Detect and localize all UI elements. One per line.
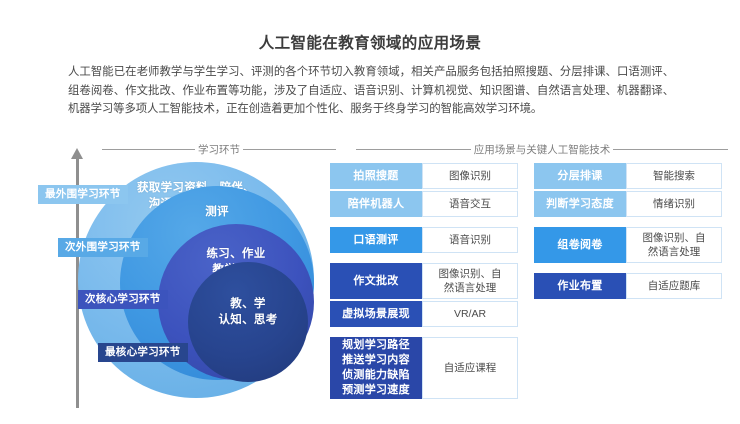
scenario-card-row[interactable]: 分层排课智能搜索 bbox=[534, 163, 722, 189]
scenario-card-group: 作业布置自适应题库 bbox=[534, 273, 722, 299]
scenario-label: 分层排课 bbox=[534, 163, 626, 189]
technology-label: 语音识别 bbox=[422, 227, 518, 253]
scenario-card-row[interactable]: 虚拟场景展现VR/AR bbox=[330, 301, 518, 327]
scenario-card-group: 拍照搜题图像识别陪伴机器人语音交互 bbox=[330, 163, 518, 217]
up-arrow-icon bbox=[71, 148, 83, 159]
technology-label: 图像识别 bbox=[422, 163, 518, 189]
scenario-card-group: 规划学习路径 推送学习内容 侦测能力缺陷 预测学习速度自适应课程 bbox=[330, 337, 518, 399]
scenario-label: 组卷阅卷 bbox=[534, 227, 626, 263]
ring-core: 教、学 认知、思考 bbox=[188, 262, 308, 382]
stage-tag-core: 最核心学习环节 bbox=[98, 343, 188, 362]
technology-label: 自适应题库 bbox=[626, 273, 722, 299]
divider-line-right bbox=[613, 149, 728, 150]
technology-label: 图像识别、自 然语言处理 bbox=[422, 263, 518, 299]
technology-label: 语音交互 bbox=[422, 191, 518, 217]
scenario-card-row[interactable]: 组卷阅卷图像识别、自 然语言处理 bbox=[534, 227, 722, 263]
page-title: 人工智能在教育领域的应用场景 bbox=[0, 31, 740, 53]
technology-label: 情绪识别 bbox=[626, 191, 722, 217]
scenario-column-right: 分层排课智能搜索判断学习态度情绪识别组卷阅卷图像识别、自 然语言处理作业布置自适… bbox=[534, 163, 722, 309]
concentric-circle-diagram: 获取学习资料、陪伴、 沟通、教务、管理 测评 练习、作业 教学辅助 教、学 认知… bbox=[30, 150, 330, 415]
technology-label: 自适应课程 bbox=[422, 337, 518, 399]
scenario-card-row[interactable]: 规划学习路径 推送学习内容 侦测能力缺陷 预测学习速度自适应课程 bbox=[330, 337, 518, 399]
scenario-card-row[interactable]: 陪伴机器人语音交互 bbox=[330, 191, 518, 217]
scenario-label: 判断学习态度 bbox=[534, 191, 626, 217]
scenario-card-group: 分层排课智能搜索判断学习态度情绪识别 bbox=[534, 163, 722, 217]
scenario-label: 拍照搜题 bbox=[330, 163, 422, 189]
scenario-label: 作业布置 bbox=[534, 273, 626, 299]
scenario-panel: 拍照搜题图像识别陪伴机器人语音交互口语测评语音识别作文批改图像识别、自 然语言处… bbox=[330, 163, 732, 418]
stage-tag-outermost: 最外围学习环节 bbox=[38, 185, 128, 204]
scenario-label: 虚拟场景展现 bbox=[330, 301, 422, 327]
ring-label-second: 测评 bbox=[120, 204, 314, 220]
scenario-card-row[interactable]: 判断学习态度情绪识别 bbox=[534, 191, 722, 217]
stage-tag-third: 次核心学习环节 bbox=[78, 290, 168, 309]
scenario-card-row[interactable]: 作业布置自适应题库 bbox=[534, 273, 722, 299]
technology-label: VR/AR bbox=[422, 301, 518, 327]
scenario-card-group: 口语测评语音识别 bbox=[330, 227, 518, 253]
technology-label: 智能搜索 bbox=[626, 163, 722, 189]
scenario-label: 作文批改 bbox=[330, 263, 422, 299]
scenario-card-group: 作文批改图像识别、自 然语言处理虚拟场景展现VR/AR bbox=[330, 263, 518, 327]
scenario-card-row[interactable]: 口语测评语音识别 bbox=[330, 227, 518, 253]
section-heading-label: 应用场景与关键人工智能技术 bbox=[471, 142, 614, 157]
scenario-card-row[interactable]: 作文批改图像识别、自 然语言处理 bbox=[330, 263, 518, 299]
scenario-label: 规划学习路径 推送学习内容 侦测能力缺陷 预测学习速度 bbox=[330, 337, 422, 399]
scenario-column-left: 拍照搜题图像识别陪伴机器人语音交互口语测评语音识别作文批改图像识别、自 然语言处… bbox=[330, 163, 518, 409]
stage-tag-second: 次外围学习环节 bbox=[58, 238, 148, 257]
scenario-card-row[interactable]: 拍照搜题图像识别 bbox=[330, 163, 518, 189]
divider-line-left bbox=[356, 149, 471, 150]
ring-label-core: 教、学 认知、思考 bbox=[188, 296, 308, 328]
technology-label: 图像识别、自 然语言处理 bbox=[626, 227, 722, 263]
scenario-label: 口语测评 bbox=[330, 227, 422, 253]
scenario-card-group: 组卷阅卷图像识别、自 然语言处理 bbox=[534, 227, 722, 263]
scenario-label: 陪伴机器人 bbox=[330, 191, 422, 217]
intro-paragraph: 人工智能已在老师教学与学生学习、评测的各个环节切入教育领域，相关产品服务包括拍照… bbox=[68, 63, 674, 119]
section-heading-scenarios: 应用场景与关键人工智能技术 bbox=[356, 142, 728, 157]
